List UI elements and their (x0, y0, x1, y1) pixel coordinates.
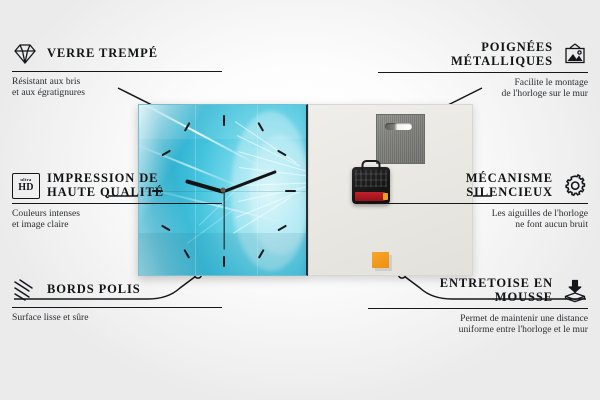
infographic-root: VERRE TREMPÉ Résistant aux bris et aux é… (0, 0, 600, 400)
subtitle-line: ne font aucun bruit (378, 219, 588, 230)
feature-title: BORDS POLIS (47, 283, 141, 297)
foam-spacer-icon (562, 278, 588, 304)
feature-subtitle: Les aiguilles de l'horloge ne font aucun… (378, 208, 588, 231)
feature-subtitle: Résistant aux bris et aux égratignures (12, 76, 222, 99)
feature-bords-polis: BORDS POLIS Surface lisse et sûre (12, 277, 222, 323)
subtitle-line: Couleurs intenses (12, 208, 222, 219)
title-rule (378, 72, 588, 73)
hanger-keyhole (385, 123, 412, 130)
title-rule (12, 71, 222, 72)
feature-impression-haute-qualite: ultra HD IMPRESSION DE HAUTE QUALITÉ Cou… (12, 172, 222, 231)
feature-subtitle: Permet de maintenir une distance uniform… (368, 313, 588, 336)
title-rule (12, 307, 222, 308)
clock-minute-hand (223, 170, 276, 193)
subtitle-line: Facilite le montage (378, 77, 588, 88)
feature-mecanisme-silencieux: MÉCANISME SILENCIEUX Les aiguilles de l'… (378, 172, 588, 231)
feature-subtitle: Facilite le montage de l'horloge sur le … (378, 77, 588, 100)
subtitle-line: Permet de maintenir une distance (368, 313, 588, 324)
feature-title: MÉCANISME SILENCIEUX (403, 172, 553, 199)
foam-spacer (372, 252, 389, 268)
title-rule (378, 203, 588, 204)
metal-hanger-plate (376, 114, 425, 164)
subtitle-line: de l'horloge sur le mur (378, 88, 588, 99)
feature-poignees-metalliques: POIGNÉES MÉTALLIQUES Facilite le montage… (378, 41, 588, 100)
subtitle-line: et aux égratignures (12, 87, 222, 98)
subtitle-line: uniforme entre l'horloge et le mur (368, 324, 588, 335)
subtitle-line: Les aiguilles de l'horloge (378, 208, 588, 219)
feature-title: VERRE TREMPÉ (47, 47, 158, 61)
feature-entretoise-en-mousse: ENTRETOISE EN MOUSSE Permet de maintenir… (368, 277, 588, 336)
title-rule (368, 308, 588, 309)
picture-frame-icon (562, 42, 588, 68)
feature-title: IMPRESSION DE HAUTE QUALITÉ (47, 172, 197, 199)
gear-icon (562, 173, 588, 199)
feature-subtitle: Surface lisse et sûre (12, 312, 222, 323)
feature-verre-trempe: VERRE TREMPÉ Résistant aux bris et aux é… (12, 41, 222, 99)
subtitle-line: et image claire (12, 219, 222, 230)
diamond-icon (12, 41, 38, 67)
subtitle-line: Résistant aux bris (12, 76, 222, 87)
clock-second-hand (223, 192, 224, 250)
title-rule (12, 203, 222, 204)
ultra-hd-icon: ultra HD (12, 173, 38, 199)
feature-subtitle: Couleurs intenses et image claire (12, 208, 222, 231)
feature-title: POIGNÉES MÉTALLIQUES (403, 41, 553, 68)
subtitle-line: Surface lisse et sûre (12, 312, 222, 323)
feature-title: ENTRETOISE EN MOUSSE (403, 277, 553, 304)
polished-edges-icon (12, 277, 38, 303)
hd-main-label: HD (18, 183, 33, 193)
